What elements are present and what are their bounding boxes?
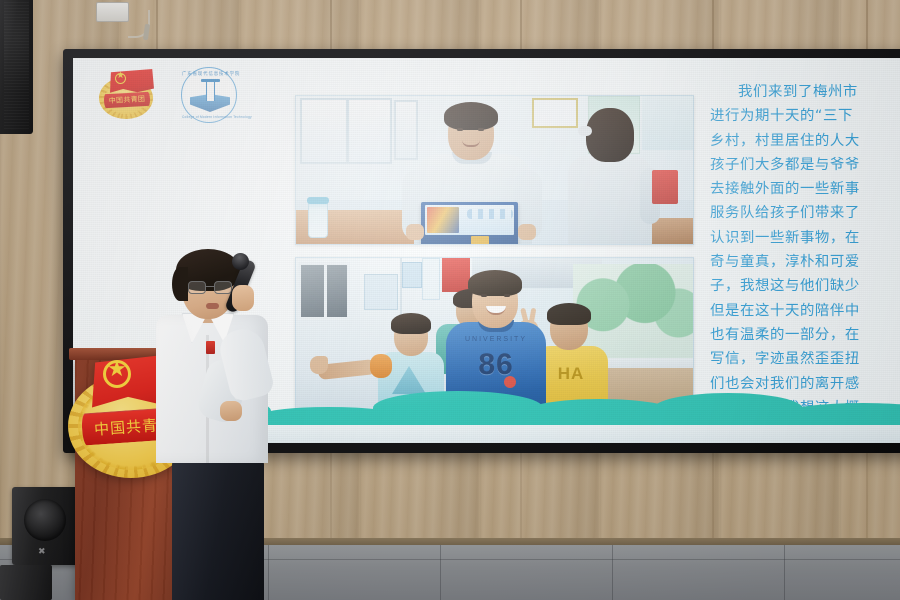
glasses-icon	[188, 281, 234, 295]
glasses-lens-right	[214, 281, 232, 294]
gift-box	[421, 202, 518, 245]
child-center-hair	[468, 270, 522, 296]
girl-hair-tie	[578, 126, 592, 136]
slide-logo-row: 中国共青团 广东省现代信息技术学院 College of Modern Info…	[97, 67, 237, 123]
classroom-window-secondary	[394, 100, 418, 160]
red-banner	[442, 258, 470, 292]
child-yellow-hair	[547, 303, 591, 325]
wall-mounted-device	[96, 2, 129, 22]
emblem-ribbon: 中国共青团	[104, 92, 151, 108]
floor-tile-seam	[440, 545, 441, 600]
school-emblem-top-text: 广东省现代信息技术学院	[182, 71, 236, 77]
boy-eye-right	[478, 128, 484, 131]
slide-text-line: 我们来到了梅州市	[710, 80, 900, 104]
wall-speaker	[0, 0, 33, 134]
child-small-hand	[310, 356, 328, 374]
classroom-window	[300, 98, 392, 164]
boy-hand-left	[406, 224, 424, 240]
slide-text-line: 子，我想这与他们缺少	[710, 274, 900, 298]
child-small-hair	[391, 313, 431, 334]
school-emblem-bottom-text: College of Modern Information Technology	[182, 115, 236, 119]
slide-text-line: 认识到一些新事物，在	[710, 226, 900, 250]
slide-text-line: 进行为期十天的“三下	[710, 104, 900, 128]
gift-box-label	[471, 236, 489, 245]
school-emblem-icon: 广东省现代信息技术学院 College of Modern Informatio…	[181, 67, 237, 123]
emblem-star-icon	[115, 73, 126, 84]
slide-text-line: 但是在这十天的陪伴中	[710, 299, 900, 323]
slide-body-text: 我们来到了梅州市 进行为期十天的“三下 乡村，村里居住的人大 孩子们大多都是与爷…	[710, 80, 900, 420]
presenter-mouth	[206, 303, 219, 309]
child-center-eye-left	[481, 294, 487, 297]
speaker-woofer-icon	[24, 499, 66, 541]
boy-eye-left	[457, 128, 463, 131]
presenter-hand-right	[232, 285, 254, 311]
school-emblem-pillar-shape	[206, 81, 215, 101]
notice-board	[364, 274, 398, 310]
podium-emblem-star-icon	[103, 360, 131, 388]
wall-poster-secondary	[642, 96, 694, 150]
floor-speaker-secondary	[0, 565, 52, 600]
water-bottle	[308, 200, 328, 238]
presenter-badge	[206, 341, 215, 354]
notice-board-small	[402, 262, 422, 288]
water-bottle-lid	[307, 197, 329, 204]
presenter-hand-left	[220, 401, 242, 421]
glasses-lens-left	[188, 281, 206, 294]
child-center-eye-right	[504, 294, 510, 297]
slide-text-line: 写信，字迹虽然歪歪扭	[710, 347, 900, 371]
boy-hand-right	[518, 224, 536, 240]
floor-speaker: ✖	[12, 487, 80, 565]
presenter-trousers	[172, 457, 264, 600]
slide-text-line: 乡村，村里居住的人大	[710, 129, 900, 153]
emblem-ribbon-text: 中国共青团	[109, 94, 146, 106]
slide-text-line: 孩子们大多都是与爷爷	[710, 153, 900, 177]
floor-tile-seam	[612, 545, 613, 600]
presentation-room-scene: ✖ 中国共青团 广东省现代信息技	[0, 0, 900, 600]
gift-box-contents	[427, 207, 459, 233]
notice-board-tall	[422, 258, 440, 300]
photo-boy-with-gift-box	[295, 95, 694, 245]
gift-box-pattern	[467, 209, 513, 219]
glasses-bridge	[206, 286, 214, 287]
building-window	[298, 262, 350, 320]
wall-certificate	[532, 98, 578, 128]
slide-text-line: 服务队给孩子们带来了	[710, 201, 900, 225]
boy-hair	[444, 102, 498, 130]
communist-youth-league-emblem-icon: 中国共青团	[97, 69, 161, 121]
jersey-number: 86	[454, 350, 538, 380]
slide-text-line: 也有温柔的一部分，在	[710, 323, 900, 347]
slide-text-line: 奇与童真，淳朴和可爱	[710, 250, 900, 274]
jersey-word: UNIVERSITY	[454, 336, 538, 343]
red-bag	[652, 170, 678, 204]
school-emblem-lintel-shape	[201, 79, 220, 82]
presenter	[150, 243, 300, 600]
presenter-hair-side	[172, 267, 188, 301]
slide-text-line: 去接触外面的一些新事	[710, 177, 900, 201]
girl-hair	[586, 108, 634, 162]
speaker-brand-mark: ✖	[38, 547, 46, 556]
floor-tile-seam	[784, 545, 785, 600]
child-small-orange-sleeve	[370, 354, 392, 378]
